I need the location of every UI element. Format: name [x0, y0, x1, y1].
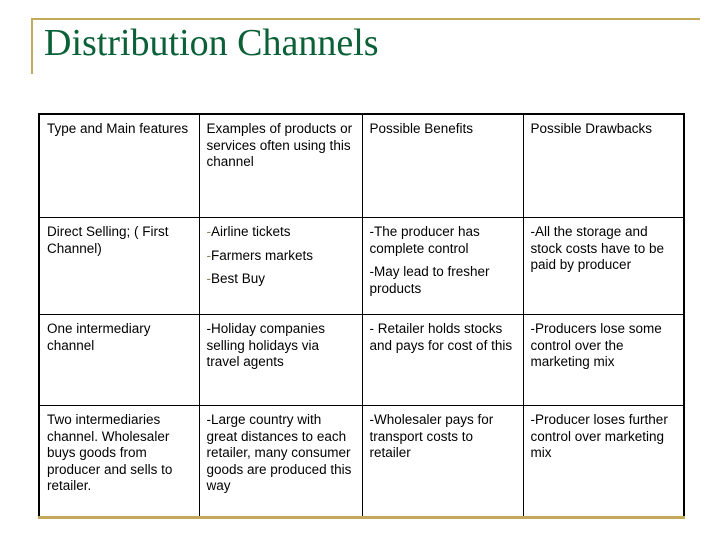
list-item: -Producers lose some control over the ma…: [531, 321, 677, 371]
list-item: -Holiday companies selling holidays via …: [207, 321, 355, 371]
list-item: -All the storage and stock costs have to…: [531, 224, 677, 274]
list-item-text: Producers lose some control over the mar…: [531, 321, 662, 369]
channel-type-label: One intermediary channel: [47, 321, 151, 353]
cell-type: Two intermediaries channel. Wholesaler b…: [39, 406, 199, 518]
channel-type-label: Two intermediaries channel. Wholesaler b…: [47, 412, 172, 493]
table-header-row: Type and Main features Examples of produ…: [39, 114, 684, 218]
list-item: -The producer has complete control: [370, 224, 516, 257]
cell-benefits: -The producer has complete control -May …: [362, 218, 523, 315]
cell-type: Direct Selling; ( First Channel): [39, 218, 199, 315]
cell-drawbacks: -Producer loses further control over mar…: [523, 406, 684, 518]
cell-drawbacks: -All the storage and stock costs have to…: [523, 218, 684, 315]
list-item-text: Producer loses further control over mark…: [531, 412, 668, 460]
header-label-examples: Examples of products or services often u…: [207, 121, 353, 169]
page-title: Distribution Channels: [44, 20, 379, 66]
cell-drawbacks: -Producers lose some control over the ma…: [523, 315, 684, 406]
header-cell-examples: Examples of products or services often u…: [199, 114, 362, 218]
distribution-channels-table: Type and Main features Examples of produ…: [38, 113, 685, 519]
list-item: -Large country with great distances to e…: [207, 412, 355, 495]
header-cell-drawbacks: Possible Drawbacks: [523, 114, 684, 218]
list-item-text: Wholesaler pays for transport costs to r…: [370, 412, 494, 460]
list-item: -Wholesaler pays for transport costs to …: [370, 412, 516, 462]
list-item-text: Holiday companies selling holidays via t…: [207, 321, 326, 369]
cell-examples: -Holiday companies selling holidays via …: [199, 315, 362, 406]
table-row: Direct Selling; ( First Channel) -Airlin…: [39, 218, 684, 315]
list-item-text: May lead to fresher products: [370, 264, 490, 296]
table-row: One intermediary channel -Holiday compan…: [39, 315, 684, 406]
header-label-type: Type and Main features: [47, 121, 188, 136]
cell-examples: -Airline tickets -Farmers markets -Best …: [199, 218, 362, 315]
cell-benefits: - Retailer holds stocks and pays for cos…: [362, 315, 523, 406]
list-item: -Airline tickets: [207, 224, 355, 241]
list-item-text: The producer has complete control: [370, 224, 480, 256]
list-item-text: Large country with great distances to ea…: [207, 412, 352, 493]
list-item: -Best Buy: [207, 271, 355, 288]
list-item: -Producer loses further control over mar…: [531, 412, 677, 462]
header-cell-benefits: Possible Benefits: [362, 114, 523, 218]
cell-examples: -Large country with great distances to e…: [199, 406, 362, 518]
list-item-text: Airline tickets: [211, 224, 291, 239]
cell-benefits: -Wholesaler pays for transport costs to …: [362, 406, 523, 518]
header-label-benefits: Possible Benefits: [370, 121, 474, 136]
table-row: Two intermediaries channel. Wholesaler b…: [39, 406, 684, 518]
header-cell-type: Type and Main features: [39, 114, 199, 218]
list-item: -May lead to fresher products: [370, 264, 516, 297]
cell-type: One intermediary channel: [39, 315, 199, 406]
list-item: -Farmers markets: [207, 248, 355, 265]
list-item-text: Best Buy: [211, 271, 265, 286]
header-label-drawbacks: Possible Drawbacks: [531, 121, 653, 136]
list-item-text: All the storage and stock costs have to …: [531, 224, 665, 272]
list-item: - Retailer holds stocks and pays for cos…: [370, 321, 516, 354]
channel-type-label: Direct Selling; ( First Channel): [47, 224, 169, 256]
list-item-text: Farmers markets: [211, 248, 313, 263]
list-item-text: Retailer holds stocks and pays for cost …: [370, 321, 513, 353]
